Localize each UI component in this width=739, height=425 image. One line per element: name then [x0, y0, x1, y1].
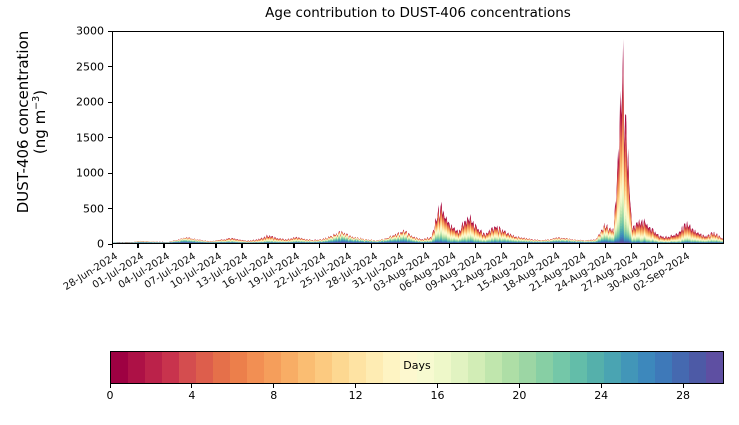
- x-tick-mark: [527, 244, 528, 248]
- x-tick-mark: [631, 244, 632, 248]
- x-tick-mark: [345, 244, 346, 248]
- x-tick-mark: [241, 244, 242, 248]
- plot-area: [112, 31, 724, 244]
- chart-figure: Age contribution to DUST-406 concentrati…: [0, 0, 739, 425]
- y-axis-label: DUST-406 concentration (ng m−3): [20, 12, 44, 232]
- x-tick-mark: [319, 244, 320, 248]
- colorbar-segment: [689, 352, 706, 383]
- colorbar-segment: [451, 352, 468, 383]
- x-tick-mark: [501, 244, 502, 248]
- y-tick-mark: [108, 102, 112, 103]
- y-tick-label: 2000: [58, 96, 104, 109]
- x-tick-mark: [293, 244, 294, 248]
- colorbar-segment: [400, 352, 417, 383]
- colorbar-segment: [145, 352, 162, 383]
- colorbar-tick-label: 0: [107, 389, 114, 402]
- colorbar-segment: [638, 352, 655, 383]
- colorbar-segment: [417, 352, 434, 383]
- colorbar-segment: [536, 352, 553, 383]
- colorbar-segment: [655, 352, 672, 383]
- x-tick-mark: [423, 244, 424, 248]
- colorbar-segment: [468, 352, 485, 383]
- colorbar-segment: [383, 352, 400, 383]
- colorbar-segment: [570, 352, 587, 383]
- colorbar-segment: [485, 352, 502, 383]
- age-band-1: [113, 48, 723, 243]
- x-tick-mark: [112, 244, 113, 248]
- age-band-0: [113, 39, 723, 243]
- colorbar-segment: [213, 352, 230, 383]
- y-axis-label-line1: DUST-406 concentration: [14, 31, 32, 214]
- colorbar-tick-mark: [683, 384, 684, 388]
- colorbar-segment: [162, 352, 179, 383]
- y-tick-mark: [108, 137, 112, 138]
- y-axis-label-line2-post: ): [31, 90, 49, 96]
- y-axis-label-exponent: −3: [31, 96, 42, 110]
- colorbar-tick-label: 8: [270, 389, 277, 402]
- colorbar-segment: [621, 352, 638, 383]
- colorbar-segment: [111, 352, 128, 383]
- colorbar-segment: [196, 352, 213, 383]
- x-tick-mark: [579, 244, 580, 248]
- y-tick-mark: [108, 31, 112, 32]
- series-canvas: [113, 32, 723, 243]
- x-tick-mark: [163, 244, 164, 248]
- x-tick-mark: [189, 244, 190, 248]
- colorbar-segment: [553, 352, 570, 383]
- x-tick-mark: [605, 244, 606, 248]
- x-tick-mark: [267, 244, 268, 248]
- y-tick-mark: [108, 66, 112, 67]
- page-title: Age contribution to DUST-406 concentrati…: [112, 5, 724, 21]
- colorbar-tick-mark: [437, 384, 438, 388]
- colorbar-tick-label: 12: [349, 389, 363, 402]
- colorbar-tick-mark: [355, 384, 356, 388]
- colorbar-segment: [128, 352, 145, 383]
- y-tick-label: 3000: [58, 25, 104, 38]
- colorbar-tick-label: 20: [512, 389, 526, 402]
- colorbar-tick-mark: [273, 384, 274, 388]
- colorbar-segment: [315, 352, 332, 383]
- colorbar-segment: [298, 352, 315, 383]
- x-tick-mark: [475, 244, 476, 248]
- x-tick-mark: [215, 244, 216, 248]
- y-tick-label: 2500: [58, 60, 104, 73]
- x-tick-mark: [657, 244, 658, 248]
- colorbar-tick-mark: [519, 384, 520, 388]
- y-tick-label: 1500: [58, 131, 104, 144]
- colorbar-segment: [706, 352, 723, 383]
- colorbar-segment: [247, 352, 264, 383]
- colorbar-segment: [332, 352, 349, 383]
- age-band-4: [113, 76, 723, 243]
- colorbar-segment: [587, 352, 604, 383]
- age-band-2: [113, 58, 723, 243]
- x-tick-mark: [397, 244, 398, 248]
- colorbar-tick-label: 16: [430, 389, 444, 402]
- colorbar-segment: [502, 352, 519, 383]
- colorbar-segment: [264, 352, 281, 383]
- colorbar-segment: [179, 352, 196, 383]
- y-tick-label: 1000: [58, 167, 104, 180]
- x-tick-mark: [449, 244, 450, 248]
- colorbar-tick-mark: [110, 384, 111, 388]
- colorbar-tick-mark: [191, 384, 192, 388]
- colorbar-segment: [604, 352, 621, 383]
- colorbar-tick-label: 4: [188, 389, 195, 402]
- colorbar-segment: [230, 352, 247, 383]
- colorbar-segment: [349, 352, 366, 383]
- colorbar-tick-label: 28: [676, 389, 690, 402]
- y-tick-label: 0: [58, 238, 104, 251]
- x-tick-mark: [371, 244, 372, 248]
- colorbar-segment: [519, 352, 536, 383]
- x-tick-mark: [683, 244, 684, 248]
- y-tick-mark: [108, 173, 112, 174]
- y-axis-label-line2-pre: (ng m: [31, 110, 49, 154]
- x-tick-mark: [137, 244, 138, 248]
- colorbar-segment: [281, 352, 298, 383]
- colorbar[interactable]: [110, 351, 724, 384]
- colorbar-tick-mark: [601, 384, 602, 388]
- colorbar-segment: [672, 352, 689, 383]
- age-band-3: [113, 67, 723, 243]
- y-tick-label: 500: [58, 202, 104, 215]
- colorbar-segment: [366, 352, 383, 383]
- colorbar-segment: [434, 352, 451, 383]
- y-tick-mark: [108, 208, 112, 209]
- colorbar-tick-label: 24: [594, 389, 608, 402]
- x-tick-mark: [553, 244, 554, 248]
